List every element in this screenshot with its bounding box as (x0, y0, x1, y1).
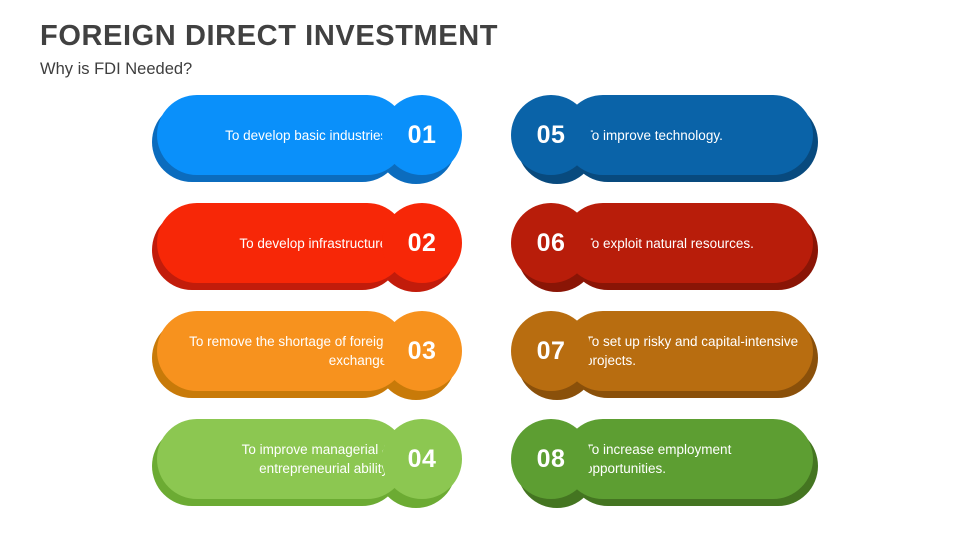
reason-pill[interactable]: To set up risky and capital-intensive pr… (563, 311, 813, 391)
reason-card-body: To increase employment opportunities.08 (478, 414, 818, 514)
reason-card-07[interactable]: To set up risky and capital-intensive pr… (478, 306, 818, 414)
number-badge[interactable]: 03 (382, 311, 462, 391)
reason-pill[interactable]: To improve technology. (563, 95, 813, 175)
number-badge-label: 02 (408, 231, 437, 256)
number-badge-label: 08 (537, 447, 566, 472)
reason-pill[interactable]: To remove the shortage of foreign exchan… (157, 311, 407, 391)
reason-card-body: To set up risky and capital-intensive pr… (478, 306, 818, 406)
reason-card-body: To improve technology.05 (478, 90, 818, 190)
reason-text: To improve managerial & entrepreneurial … (157, 440, 391, 478)
reason-text: To improve technology. (585, 126, 723, 145)
reason-card-02[interactable]: To develop infrastructure.02 (152, 198, 492, 306)
number-badge-label: 01 (408, 123, 437, 148)
reason-card-05[interactable]: To improve technology.05 (478, 90, 818, 198)
reason-card-body: To exploit natural resources.06 (478, 198, 818, 298)
reason-text: To remove the shortage of foreign exchan… (157, 332, 391, 370)
reason-card-body: To remove the shortage of foreign exchan… (152, 306, 492, 406)
reason-text: To set up risky and capital-intensive pr… (585, 332, 813, 370)
reason-card-body: To improve managerial & entrepreneurial … (152, 414, 492, 514)
number-badge[interactable]: 05 (511, 95, 591, 175)
reason-pill[interactable]: To develop basic industries. (157, 95, 407, 175)
fdi-reasons-grid: To develop basic industries.01To develop… (0, 0, 960, 540)
reason-text: To increase employment opportunities. (585, 440, 813, 478)
reason-card-01[interactable]: To develop basic industries.01 (152, 90, 492, 198)
reason-card-body: To develop basic industries.01 (152, 90, 492, 190)
number-badge-label: 07 (537, 339, 566, 364)
number-badge[interactable]: 08 (511, 419, 591, 499)
number-badge[interactable]: 06 (511, 203, 591, 283)
reason-card-03[interactable]: To remove the shortage of foreign exchan… (152, 306, 492, 414)
reason-text: To develop infrastructure. (239, 234, 391, 253)
reason-text: To develop basic industries. (225, 126, 391, 145)
number-badge[interactable]: 07 (511, 311, 591, 391)
reason-pill[interactable]: To exploit natural resources. (563, 203, 813, 283)
slide-canvas: FOREIGN DIRECT INVESTMENT Why is FDI Nee… (0, 0, 960, 540)
reason-text: To exploit natural resources. (585, 234, 754, 253)
number-badge-label: 06 (537, 231, 566, 256)
number-badge[interactable]: 04 (382, 419, 462, 499)
number-badge-label: 05 (537, 123, 566, 148)
reason-pill[interactable]: To increase employment opportunities. (563, 419, 813, 499)
number-badge[interactable]: 01 (382, 95, 462, 175)
number-badge-label: 03 (408, 339, 437, 364)
reason-card-body: To develop infrastructure.02 (152, 198, 492, 298)
reason-card-04[interactable]: To improve managerial & entrepreneurial … (152, 414, 492, 522)
reason-pill[interactable]: To improve managerial & entrepreneurial … (157, 419, 407, 499)
reason-card-06[interactable]: To exploit natural resources.06 (478, 198, 818, 306)
reason-pill[interactable]: To develop infrastructure. (157, 203, 407, 283)
number-badge-label: 04 (408, 447, 437, 472)
reason-card-08[interactable]: To increase employment opportunities.08 (478, 414, 818, 522)
number-badge[interactable]: 02 (382, 203, 462, 283)
